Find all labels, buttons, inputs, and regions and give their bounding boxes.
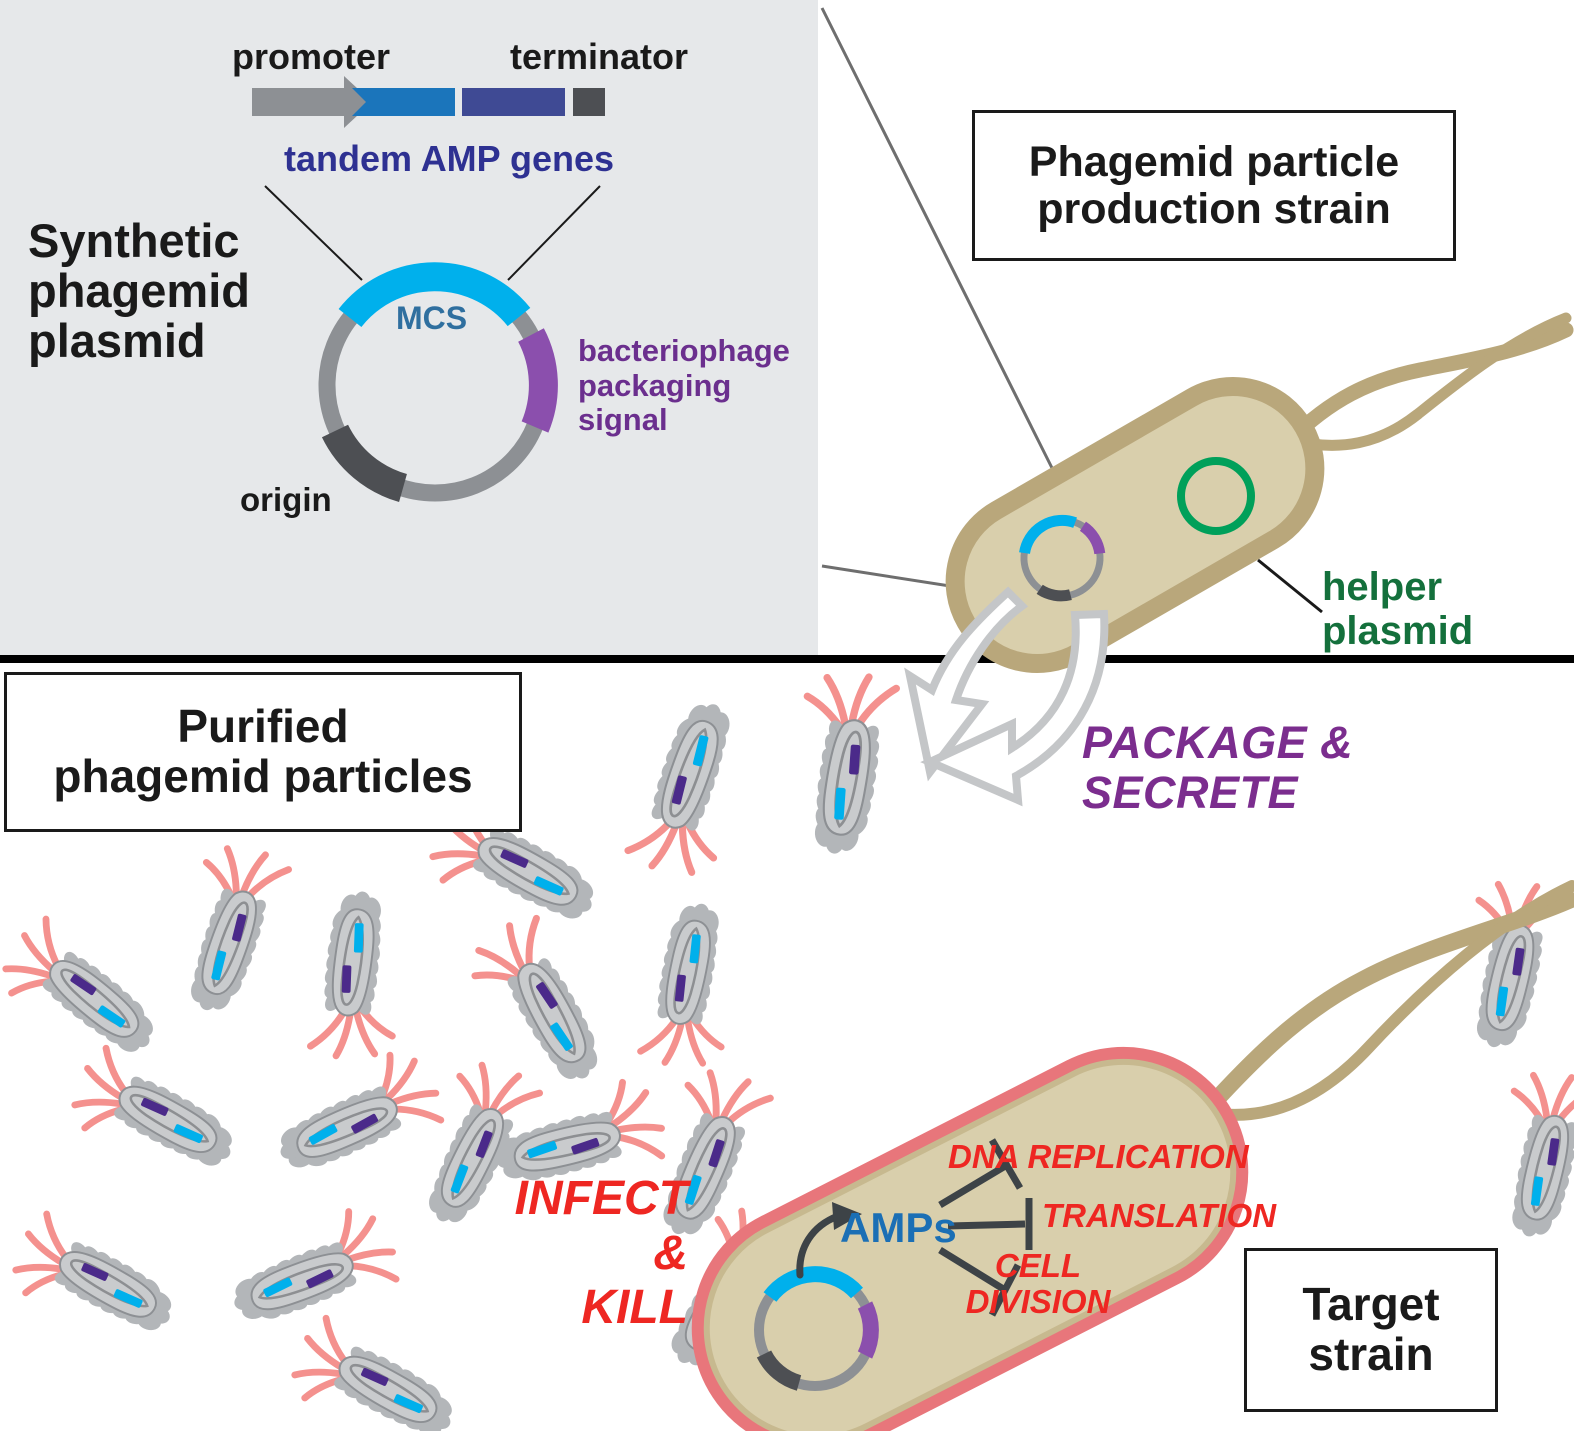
phagemid-particle [786,669,897,859]
tandem-amp-genes-label: tandem AMP genes [284,140,614,178]
phagemid-particle [263,1044,448,1187]
production-flagellum [1290,318,1566,445]
mcs-label: MCS [396,302,467,336]
target-strain-title-box: Target strain [1244,1248,1498,1412]
promoter-label: promoter [232,38,390,76]
phagemid-particle [62,1045,246,1194]
amp-gene-2-box [462,88,565,116]
figure-canvas: promoter terminator tandem AMP genes Syn… [0,0,1574,1431]
panel-divider [0,655,1574,663]
phagemid-particle [626,693,759,883]
phagemid-particle [218,1202,402,1339]
helper-plasmid-label: helper plasmid [1322,565,1473,653]
plasmid-packaging-arc [531,335,543,427]
phagemid-particle [310,888,407,1062]
infect-kill-label: INFECT & KILL [478,1172,688,1336]
phagemid-particle [163,838,291,1021]
phagemid-particle [1485,1066,1574,1243]
package-secrete-label: PACKAGE & SECRETE [1082,718,1353,819]
package-secrete-arrows [910,592,1104,800]
amp-gene-1-box [352,88,455,116]
dna-replication-label: DNA REPLICATION [948,1140,1249,1175]
production-strain-title-box: Phagemid particle production strain [972,110,1456,261]
helper-plasmid-leader-line [1258,560,1322,612]
packaging-signal-label: bacteriophage packaging signal [578,334,790,438]
amps-label: AMPs [840,1206,957,1251]
origin-label: origin [240,483,332,518]
phagemid-particle [0,915,170,1079]
phagemid-particle [3,1211,186,1358]
phagemid-particle [639,898,745,1072]
translation-label: TRANSLATION [1042,1199,1276,1234]
terminator-label: terminator [510,38,688,76]
terminator-box-shape [573,88,605,116]
purified-particles-title-box: Purified phagemid particles [4,672,522,832]
synthetic-plasmid-panel-title: Synthetic phagemid plasmid [28,216,250,365]
phagemid-particle [282,1315,466,1431]
cell-division-label: CELL DIVISION [948,1248,1128,1321]
